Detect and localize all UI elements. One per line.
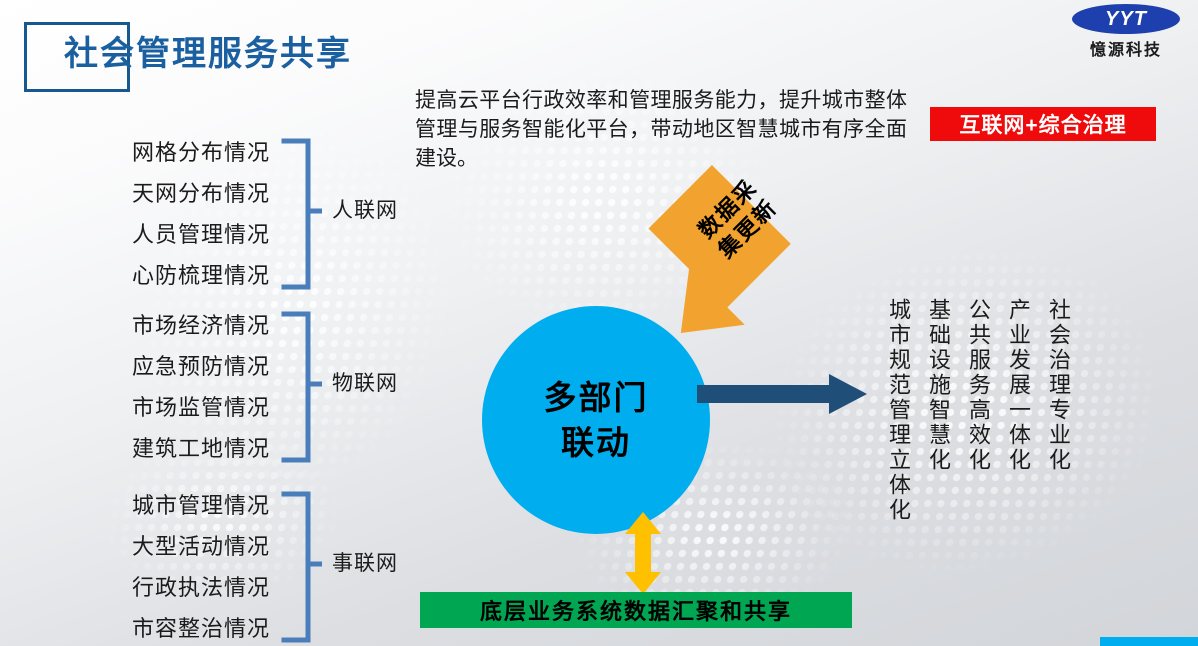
curly-brace-icon <box>278 138 322 290</box>
curly-brace-icon <box>278 311 322 463</box>
outcome-text: 公共服务高效化 <box>964 298 992 473</box>
outcome-text: 产业发展一体化 <box>1004 298 1032 473</box>
list-item: 人员管理情况 <box>60 214 270 255</box>
list-item: 网格分布情况 <box>60 132 270 173</box>
category-group-label: 事联网 <box>332 547 398 577</box>
category-group-label: 人联网 <box>332 194 398 224</box>
company-name: 憶源科技 <box>1068 36 1184 60</box>
company-logo: YYT 憶源科技 <box>1068 4 1184 60</box>
category-group-label: 物联网 <box>332 367 398 397</box>
intro-paragraph: 提高云平台行政效率和管理服务能力，提升城市整体管理与服务智能化平台，带动地区智慧… <box>415 86 907 173</box>
list-item: 心防梳理情况 <box>60 255 270 296</box>
category-item-list: 市场经济情况 应急预防情况 市场监管情况 建筑工地情况 <box>60 305 270 469</box>
outcome-text: 基础设施智慧化 <box>924 298 952 473</box>
block-arrow-icon <box>625 163 825 343</box>
slide-canvas: 社会管理服务共享 YYT 憶源科技 提高云平台行政效率和管理服务能力，提升城市整… <box>0 0 1198 646</box>
accent-bar-decoration <box>1100 637 1198 646</box>
outcome-text: 城市规范管理立体化 <box>884 298 912 523</box>
data-collection-arrow: 数据采 集更新 <box>625 163 825 343</box>
list-item: 应急预防情况 <box>60 346 270 387</box>
list-item: 市场监管情况 <box>60 387 270 428</box>
list-item: 天网分布情况 <box>60 173 270 214</box>
hub-label-line2: 联动 <box>561 420 631 465</box>
list-item: 建筑工地情况 <box>60 428 270 469</box>
status-badge: 互联网+综合治理 <box>930 107 1156 141</box>
hub-label-line1: 多部门 <box>544 375 649 420</box>
list-item: 城市管理情况 <box>60 485 270 526</box>
list-item: 大型活动情况 <box>60 526 270 567</box>
central-hub-circle: 多部门 联动 <box>482 306 710 534</box>
list-item: 行政执法情况 <box>60 567 270 608</box>
curly-brace-icon <box>278 491 322 643</box>
list-item: 市场经济情况 <box>60 305 270 346</box>
page-title: 社会管理服务共享 <box>64 26 352 75</box>
logo-ellipse-icon: YYT <box>1072 4 1180 34</box>
bidirectional-arrow-icon <box>623 512 663 594</box>
logo-monogram: YYT <box>1072 6 1180 32</box>
outcome-text: 社会治理专业化 <box>1044 298 1072 473</box>
category-item-list: 城市管理情况 大型活动情况 行政执法情况 市容整治情况 <box>60 485 270 646</box>
outcome-arrow-icon <box>697 372 869 416</box>
data-sharing-banner: 底层业务系统数据汇聚和共享 <box>420 592 852 628</box>
list-item: 市容整治情况 <box>60 608 270 646</box>
category-item-list: 网格分布情况 天网分布情况 人员管理情况 心防梳理情况 <box>60 132 270 296</box>
